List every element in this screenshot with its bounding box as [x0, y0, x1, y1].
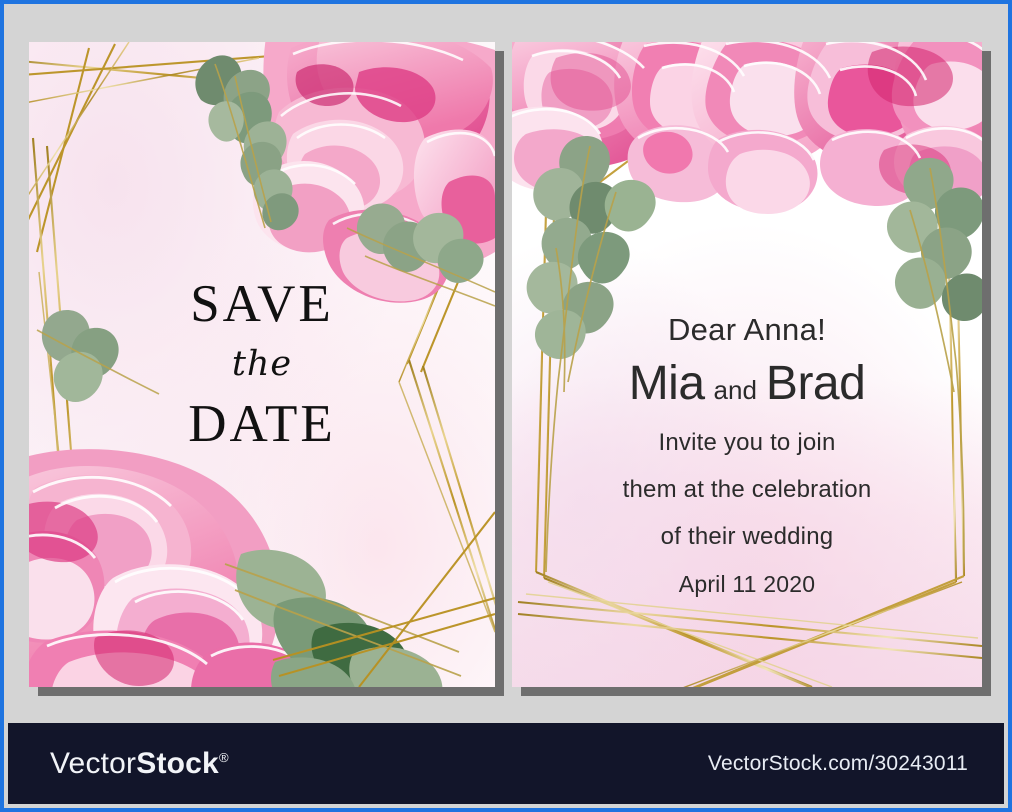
save-the-date-artwork: [29, 42, 495, 687]
save-the-date-card[interactable]: SAVE the DATE: [29, 42, 495, 687]
screenshot-canvas: SAVE the DATE: [0, 0, 1012, 812]
watermark-footer: VectorStock® VectorStock.com/30243011: [8, 723, 1004, 804]
invitation-artwork: [512, 42, 982, 687]
logo-text-light: Vector: [50, 747, 136, 780]
vectorstock-logo[interactable]: VectorStock®: [50, 747, 229, 781]
invitation-card[interactable]: Dear Anna! Mia and Brad Invite you to jo…: [512, 42, 982, 687]
stock-url[interactable]: VectorStock.com/30243011: [708, 752, 968, 776]
registered-mark-icon: ®: [219, 750, 229, 765]
logo-text-bold: Stock: [136, 747, 219, 780]
